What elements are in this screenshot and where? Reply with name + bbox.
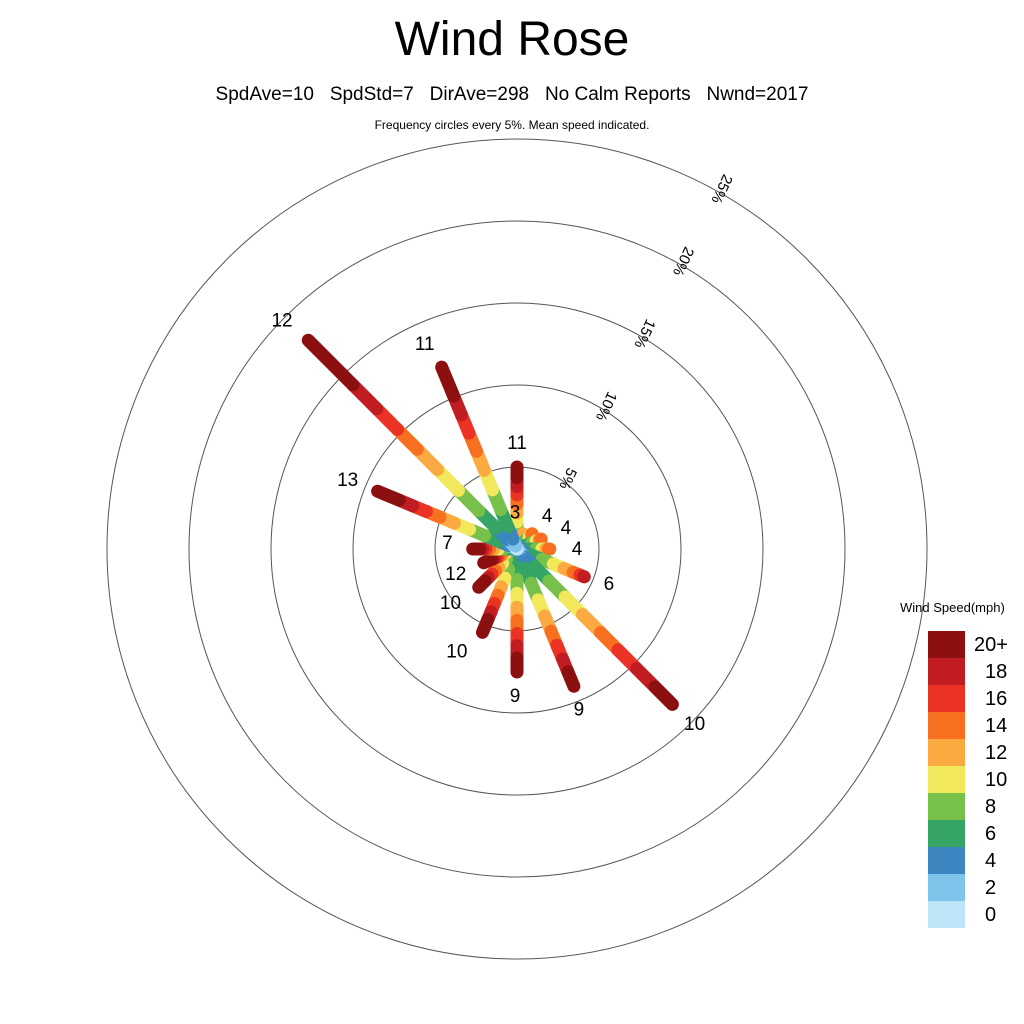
legend-label: 0 <box>965 905 1024 925</box>
petal-speed-segment <box>378 491 400 500</box>
legend-row: 12 <box>928 739 1024 766</box>
legend-label: 14 <box>965 716 1024 736</box>
petal-mean-speed-label: 9 <box>574 700 585 721</box>
petal-mean-speed-label: 10 <box>684 714 705 735</box>
petal-mean-speed-label: 12 <box>445 564 466 585</box>
petal-mean-speed-label: 4 <box>542 506 553 527</box>
legend-label: 20+ <box>965 635 1024 655</box>
legend-label: 6 <box>965 824 1024 844</box>
legend-row: 10 <box>928 766 1024 793</box>
wind-speed-legend: Wind Speed(mph) 20+181614121086420 <box>900 600 1024 928</box>
legend-color-swatch <box>928 793 965 820</box>
legend-label: 2 <box>965 878 1024 898</box>
legend-color-swatch <box>928 874 965 901</box>
legend-label: 16 <box>965 689 1024 709</box>
legend-row: 2 <box>928 874 1024 901</box>
legend-row: 18 <box>928 658 1024 685</box>
legend-color-swatch <box>928 847 965 874</box>
legend-row: 4 <box>928 847 1024 874</box>
petal-mean-speed-label: 4 <box>572 539 583 560</box>
legend-color-swatch <box>928 658 965 685</box>
petal-speed-segment <box>484 559 492 562</box>
ring-percent-label: 5% <box>555 465 580 492</box>
legend-rows: 20+181614121086420 <box>928 631 1024 928</box>
legend-row: 16 <box>928 685 1024 712</box>
legend-color-swatch <box>928 712 965 739</box>
legend-label: 4 <box>965 851 1024 871</box>
petal-speed-segment <box>568 672 574 686</box>
legend-color-swatch <box>928 901 965 928</box>
petal-mean-speed-label: 3 <box>510 502 521 523</box>
ring-percent-label: 15% <box>631 316 659 350</box>
petal-speed-segment <box>482 619 487 632</box>
petal-mean-speed-label: 6 <box>604 574 615 595</box>
petal-mean-speed-label: 12 <box>271 311 292 332</box>
petal-speed-segment <box>479 581 485 587</box>
legend-label: 8 <box>965 797 1024 817</box>
petal-mean-speed-label: 7 <box>442 533 453 554</box>
legend-row: 14 <box>928 712 1024 739</box>
legend-color-swatch <box>928 739 965 766</box>
legend-row: 0 <box>928 901 1024 928</box>
petal-mean-speed-label: 11 <box>507 433 527 454</box>
petal-mean-speed-label: 13 <box>337 470 358 491</box>
legend-label: 18 <box>965 662 1024 682</box>
petal-speed-segment <box>655 687 672 704</box>
legend-row: 8 <box>928 793 1024 820</box>
ring-percent-label: 25% <box>708 172 736 206</box>
petal-mean-speed-label: 10 <box>440 593 461 614</box>
petal-speed-segment <box>442 367 454 396</box>
legend-title: Wind Speed(mph) <box>900 600 1024 615</box>
legend-color-swatch <box>928 820 965 847</box>
legend-label: 12 <box>965 743 1024 763</box>
legend-row: 6 <box>928 820 1024 847</box>
ring-percent-labels: 5%10%15%20%25% <box>555 172 735 492</box>
petal-mean-speed-label: 11 <box>415 334 435 355</box>
legend-color-swatch <box>928 766 965 793</box>
petal-mean-speed-label: 9 <box>510 686 521 707</box>
wind-petal <box>517 549 672 704</box>
legend-color-swatch <box>928 685 965 712</box>
wind-rose-page: Wind Rose SpdAve=10 SpdStd=7 DirAve=298 … <box>0 0 1024 1024</box>
petal-mean-speed-label: 4 <box>561 518 572 539</box>
legend-label: 10 <box>965 770 1024 790</box>
petal-mean-speed-label: 10 <box>446 642 467 663</box>
legend-row: 20+ <box>928 631 1024 658</box>
petal-speed-segment <box>308 340 353 385</box>
ring-percent-label: 20% <box>669 244 697 278</box>
wind-rose-plot: 5%10%15%20%25% 113444610991010127131211 <box>0 0 1024 1024</box>
legend-color-swatch <box>928 631 965 658</box>
wind-petal <box>308 340 517 549</box>
